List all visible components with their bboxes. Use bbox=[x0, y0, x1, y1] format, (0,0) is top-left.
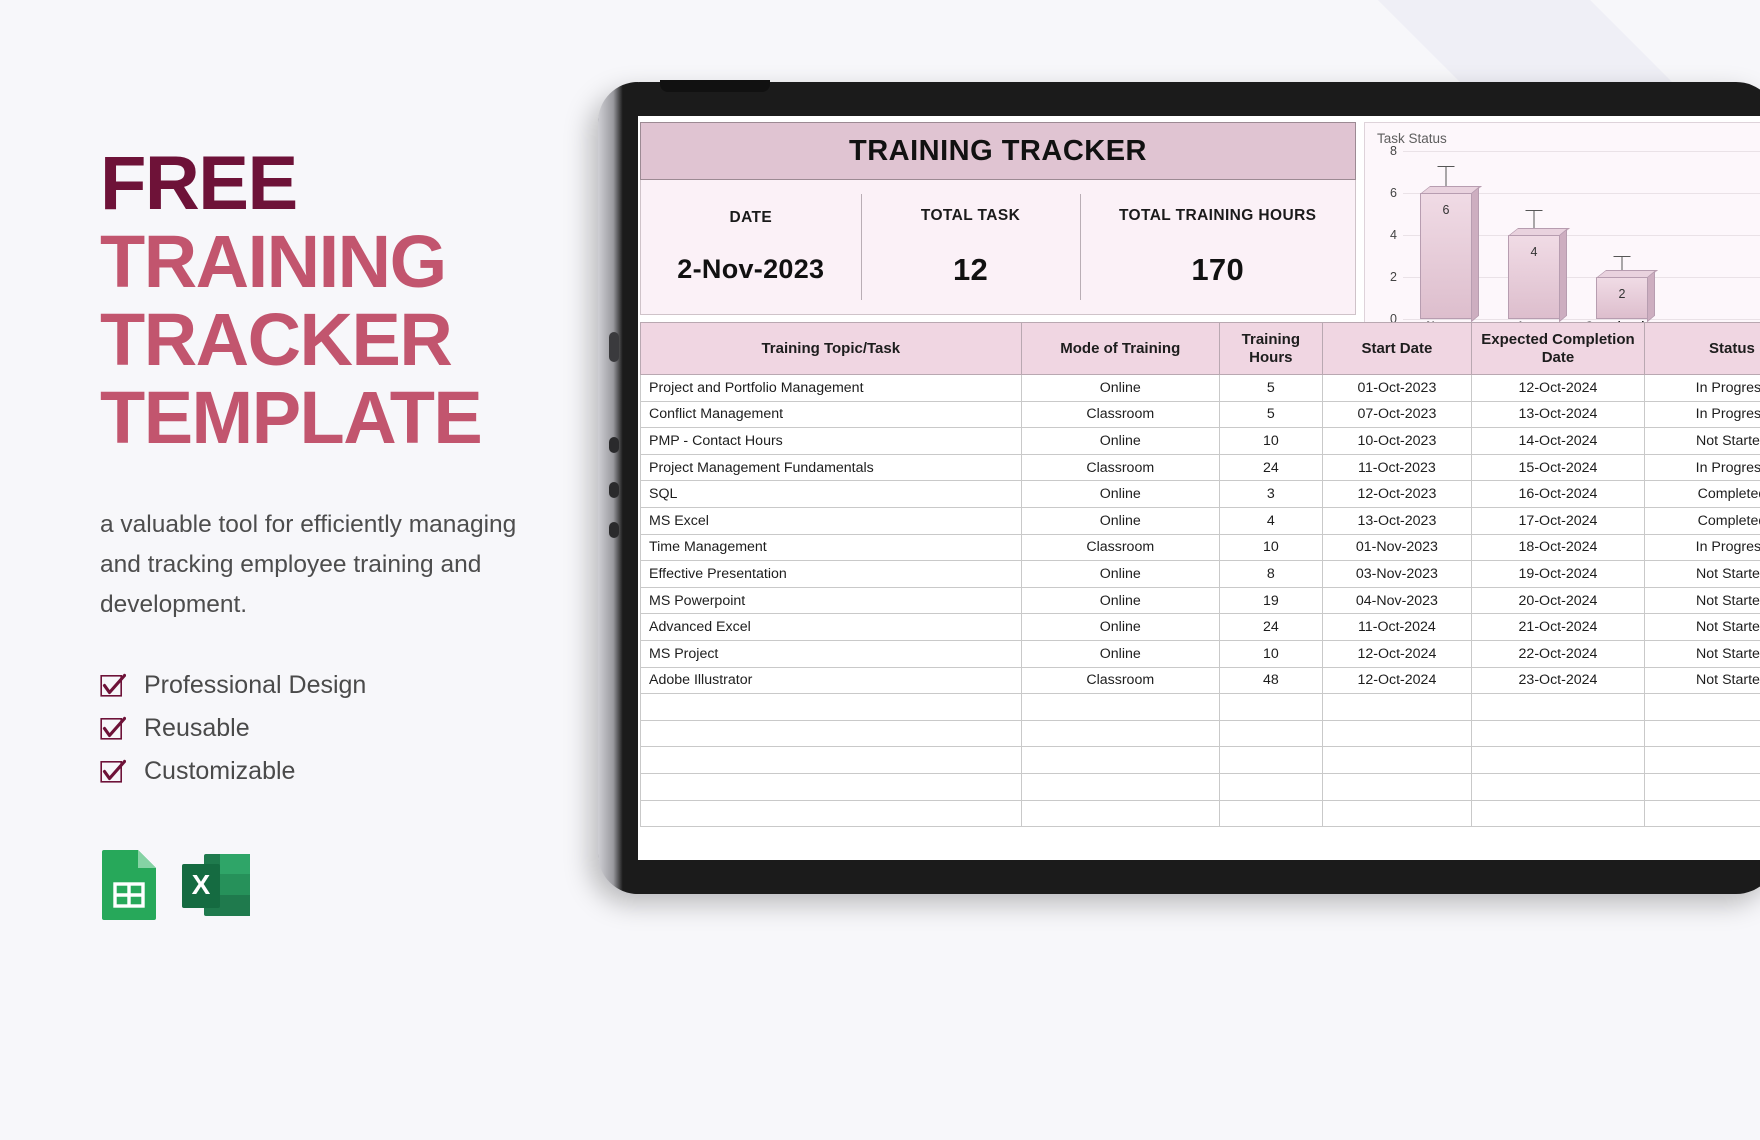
table-cell[interactable]: Online bbox=[1021, 614, 1219, 641]
table-cell[interactable]: 24 bbox=[1219, 454, 1322, 481]
col-header-topic[interactable]: Training Topic/Task bbox=[641, 323, 1022, 375]
table-cell[interactable]: Not Started bbox=[1644, 587, 1760, 614]
table-cell[interactable]: Online bbox=[1021, 481, 1219, 508]
chart-title: Task Status bbox=[1365, 123, 1760, 146]
sheet-title-banner: TRAINING TRACKER bbox=[640, 122, 1356, 180]
table-cell[interactable]: 12-Oct-2024 bbox=[1322, 640, 1471, 667]
table-cell[interactable]: Adobe Illustrator bbox=[641, 667, 1022, 694]
table-cell[interactable]: Effective Presentation bbox=[641, 561, 1022, 588]
table-cell[interactable]: 07-Oct-2023 bbox=[1322, 401, 1471, 428]
svg-text:X: X bbox=[192, 869, 211, 900]
summary-label: DATE bbox=[730, 209, 773, 227]
tablet-button[interactable] bbox=[609, 332, 619, 362]
table-row[interactable] bbox=[641, 773, 1760, 800]
table-cell[interactable]: 03-Nov-2023 bbox=[1322, 561, 1471, 588]
table-cell[interactable] bbox=[1322, 800, 1471, 827]
table-cell[interactable]: 22-Oct-2024 bbox=[1472, 640, 1645, 667]
table-cell[interactable]: Completed bbox=[1644, 507, 1760, 534]
table-cell[interactable]: Not Started bbox=[1644, 561, 1760, 588]
table-cell[interactable]: Completed bbox=[1644, 481, 1760, 508]
table-cell[interactable] bbox=[641, 800, 1022, 827]
excel-icon[interactable]: X bbox=[180, 852, 252, 925]
table-cell[interactable] bbox=[1472, 694, 1645, 721]
table-cell[interactable]: PMP - Contact Hours bbox=[641, 428, 1022, 455]
table-cell[interactable] bbox=[641, 694, 1022, 721]
col-header-hours[interactable]: Training Hours bbox=[1219, 323, 1322, 375]
table-cell[interactable]: 10 bbox=[1219, 534, 1322, 561]
table-cell[interactable]: 24 bbox=[1219, 614, 1322, 641]
table-cell[interactable] bbox=[1322, 694, 1471, 721]
table-cell[interactable]: Project and Portfolio Management bbox=[641, 375, 1022, 402]
table-cell[interactable] bbox=[1021, 720, 1219, 747]
headline-line-3: TRACKER bbox=[100, 301, 620, 379]
checkbox-checked-icon bbox=[100, 673, 126, 699]
table-cell[interactable] bbox=[641, 773, 1022, 800]
table-cell[interactable] bbox=[1644, 720, 1760, 747]
table-cell[interactable]: 10-Oct-2023 bbox=[1322, 428, 1471, 455]
table-cell[interactable]: 01-Nov-2023 bbox=[1322, 534, 1471, 561]
table-cell[interactable] bbox=[1021, 694, 1219, 721]
table-cell[interactable] bbox=[1021, 800, 1219, 827]
table-cell[interactable]: 23-Oct-2024 bbox=[1472, 667, 1645, 694]
summary-cell-date: DATE 2-Nov-2023 bbox=[641, 180, 861, 314]
promo-subtitle: a valuable tool for efficiently managing… bbox=[100, 505, 530, 625]
feature-list: Professional Design Reusable bbox=[100, 671, 620, 786]
table-row[interactable]: MS ProjectOnline1012-Oct-202422-Oct-2024… bbox=[641, 640, 1760, 667]
table-row[interactable] bbox=[641, 800, 1760, 827]
summary-bar: DATE 2-Nov-2023 TOTAL TASK 12 TOTAL TRAI… bbox=[640, 180, 1356, 315]
table-row[interactable]: MS PowerpointOnline1904-Nov-202320-Oct-2… bbox=[641, 587, 1760, 614]
table-cell[interactable]: 12-Oct-2023 bbox=[1322, 481, 1471, 508]
tablet-camera-notch bbox=[660, 80, 770, 92]
table-cell[interactable] bbox=[1644, 800, 1760, 827]
feature-label: Customizable bbox=[144, 757, 295, 786]
table-cell[interactable]: Classroom bbox=[1021, 454, 1219, 481]
table-cell[interactable]: 16-Oct-2024 bbox=[1472, 481, 1645, 508]
summary-label: TOTAL TASK bbox=[921, 207, 1020, 225]
table-cell[interactable]: In Progress bbox=[1644, 375, 1760, 402]
y-tick: 4 bbox=[1390, 228, 1397, 242]
table-cell[interactable]: Time Management bbox=[641, 534, 1022, 561]
table-cell[interactable] bbox=[1472, 800, 1645, 827]
table-cell[interactable]: 10 bbox=[1219, 640, 1322, 667]
list-item: Professional Design bbox=[100, 671, 620, 700]
table-cell[interactable]: In Progress bbox=[1644, 401, 1760, 428]
table-cell[interactable]: Online bbox=[1021, 640, 1219, 667]
table-cell[interactable]: MS Project bbox=[641, 640, 1022, 667]
table-row[interactable]: Adobe IllustratorClassroom4812-Oct-20242… bbox=[641, 667, 1760, 694]
bar-group: 4 bbox=[1507, 151, 1561, 319]
table-cell[interactable]: 19-Oct-2024 bbox=[1472, 561, 1645, 588]
table-row[interactable] bbox=[641, 747, 1760, 774]
table-cell[interactable] bbox=[1322, 747, 1471, 774]
table-cell[interactable] bbox=[1219, 773, 1322, 800]
table-cell[interactable]: 13-Oct-2024 bbox=[1472, 401, 1645, 428]
table-cell[interactable]: Classroom bbox=[1021, 401, 1219, 428]
list-item: Customizable bbox=[100, 757, 620, 786]
sheet-title-text: TRAINING TRACKER bbox=[849, 135, 1147, 168]
chart-y-axis: 8 6 4 2 0 bbox=[1375, 151, 1401, 319]
table-cell[interactable]: Online bbox=[1021, 561, 1219, 588]
table-cell[interactable]: Not Started bbox=[1644, 614, 1760, 641]
table-cell[interactable]: 18-Oct-2024 bbox=[1472, 534, 1645, 561]
col-header-mode[interactable]: Mode of Training bbox=[1021, 323, 1219, 375]
bar-value: 6 bbox=[1420, 203, 1472, 217]
table-row[interactable] bbox=[641, 720, 1760, 747]
summary-value: 170 bbox=[1191, 252, 1244, 288]
task-status-chart: Task Status 8 6 4 2 0 bbox=[1364, 122, 1760, 350]
tablet-device-frame: TRAINING TRACKER DATE 2-Nov-2023 TOTAL T… bbox=[598, 82, 1760, 894]
table-cell[interactable]: 21-Oct-2024 bbox=[1472, 614, 1645, 641]
table-cell[interactable]: 14-Oct-2024 bbox=[1472, 428, 1645, 455]
file-format-icons: X bbox=[100, 848, 620, 925]
spreadsheet: TRAINING TRACKER DATE 2-Nov-2023 TOTAL T… bbox=[638, 116, 1760, 860]
bar-value: 4 bbox=[1508, 245, 1560, 259]
table-cell[interactable] bbox=[1219, 747, 1322, 774]
table-cell[interactable]: Online bbox=[1021, 375, 1219, 402]
table-row[interactable]: Project and Portfolio ManagementOnline50… bbox=[641, 375, 1760, 402]
chart-plot-area: 8 6 4 2 0 bbox=[1375, 151, 1760, 319]
summary-value: 12 bbox=[953, 252, 988, 288]
y-tick: 8 bbox=[1390, 144, 1397, 158]
table-header: Training Topic/Task Mode of Training Tra… bbox=[641, 323, 1760, 375]
page-title: FREE TRAINING TRACKER TEMPLATE bbox=[100, 145, 620, 457]
table-cell[interactable]: Not Started bbox=[1644, 667, 1760, 694]
table-row[interactable]: Conflict ManagementClassroom507-Oct-2023… bbox=[641, 401, 1760, 428]
chart-bars: 6 4 bbox=[1405, 151, 1760, 319]
table-cell[interactable]: 04-Nov-2023 bbox=[1322, 587, 1471, 614]
table-cell[interactable]: 12-Oct-2024 bbox=[1322, 667, 1471, 694]
col-header-status[interactable]: Status bbox=[1644, 323, 1760, 375]
feature-label: Professional Design bbox=[144, 671, 366, 700]
table-cell[interactable]: 11-Oct-2024 bbox=[1322, 614, 1471, 641]
table-cell[interactable] bbox=[1472, 747, 1645, 774]
table-cell[interactable]: MS Excel bbox=[641, 507, 1022, 534]
table-cell[interactable]: 8 bbox=[1219, 561, 1322, 588]
y-tick: 6 bbox=[1390, 186, 1397, 200]
table-cell[interactable]: Not Started bbox=[1644, 640, 1760, 667]
table-cell[interactable]: 01-Oct-2023 bbox=[1322, 375, 1471, 402]
table-cell[interactable]: MS Powerpoint bbox=[641, 587, 1022, 614]
checkbox-checked-icon bbox=[100, 759, 126, 785]
table-row[interactable]: SQLOnline312-Oct-202316-Oct-2024Complete… bbox=[641, 481, 1760, 508]
col-header-expected[interactable]: Expected Completion Date bbox=[1472, 323, 1645, 375]
headline-line-4: TEMPLATE bbox=[100, 379, 620, 457]
table-header-row: Training Topic/Task Mode of Training Tra… bbox=[641, 323, 1760, 375]
training-table: Training Topic/Task Mode of Training Tra… bbox=[640, 322, 1760, 827]
checkbox-checked-icon bbox=[100, 716, 126, 742]
table-row[interactable] bbox=[641, 694, 1760, 721]
table-cell[interactable]: SQL bbox=[641, 481, 1022, 508]
table-cell[interactable] bbox=[1644, 773, 1760, 800]
table-cell[interactable] bbox=[1322, 720, 1471, 747]
table-cell[interactable] bbox=[1472, 720, 1645, 747]
table-cell[interactable] bbox=[1644, 747, 1760, 774]
headline-line-2: TRAINING bbox=[100, 223, 620, 301]
table-row[interactable]: Advanced ExcelOnline2411-Oct-202421-Oct-… bbox=[641, 614, 1760, 641]
table-cell[interactable] bbox=[641, 747, 1022, 774]
tablet-button[interactable] bbox=[609, 482, 619, 498]
table-cell[interactable] bbox=[1219, 720, 1322, 747]
table-cell[interactable]: 12-Oct-2024 bbox=[1472, 375, 1645, 402]
summary-cell-total-task: TOTAL TASK 12 bbox=[861, 180, 1081, 314]
summary-cell-total-hours: TOTAL TRAINING HOURS 170 bbox=[1080, 180, 1355, 314]
table-cell[interactable] bbox=[1219, 800, 1322, 827]
tablet-button[interactable] bbox=[609, 522, 619, 538]
table-cell[interactable]: 11-Oct-2023 bbox=[1322, 454, 1471, 481]
table-cell[interactable]: 19 bbox=[1219, 587, 1322, 614]
table-cell[interactable] bbox=[1021, 747, 1219, 774]
bar-value: 2 bbox=[1596, 287, 1648, 301]
table-cell[interactable]: Project Management Fundamentals bbox=[641, 454, 1022, 481]
summary-value: 2-Nov-2023 bbox=[677, 254, 824, 285]
table-cell[interactable]: 13-Oct-2023 bbox=[1322, 507, 1471, 534]
table-cell[interactable]: 15-Oct-2024 bbox=[1472, 454, 1645, 481]
y-tick: 2 bbox=[1390, 270, 1397, 284]
table-body: Project and Portfolio ManagementOnline50… bbox=[641, 375, 1760, 827]
table-cell[interactable] bbox=[1219, 694, 1322, 721]
table-row[interactable]: PMP - Contact HoursOnline1010-Oct-202314… bbox=[641, 428, 1760, 455]
table-cell[interactable]: 10 bbox=[1219, 428, 1322, 455]
tablet-button[interactable] bbox=[609, 437, 619, 453]
table-cell[interactable] bbox=[1472, 773, 1645, 800]
table-row[interactable]: MS ExcelOnline413-Oct-202317-Oct-2024Com… bbox=[641, 507, 1760, 534]
table-cell[interactable]: 48 bbox=[1219, 667, 1322, 694]
headline-line-1: FREE bbox=[100, 145, 620, 223]
table-cell[interactable]: In Progress bbox=[1644, 534, 1760, 561]
table-cell[interactable]: Online bbox=[1021, 587, 1219, 614]
promo-panel: FREE TRAINING TRACKER TEMPLATE a valuabl… bbox=[100, 0, 620, 1140]
table-cell[interactable]: In Progress bbox=[1644, 454, 1760, 481]
table-cell[interactable]: 5 bbox=[1219, 375, 1322, 402]
table-cell[interactable]: 17-Oct-2024 bbox=[1472, 507, 1645, 534]
col-header-start[interactable]: Start Date bbox=[1322, 323, 1471, 375]
table-cell[interactable] bbox=[1644, 694, 1760, 721]
tablet-screen: TRAINING TRACKER DATE 2-Nov-2023 TOTAL T… bbox=[638, 116, 1760, 860]
bar-group: 2 bbox=[1595, 151, 1649, 319]
list-item: Reusable bbox=[100, 714, 620, 743]
grid-line bbox=[1403, 319, 1760, 320]
feature-label: Reusable bbox=[144, 714, 250, 743]
table-cell[interactable]: 4 bbox=[1219, 507, 1322, 534]
table-cell[interactable]: Advanced Excel bbox=[641, 614, 1022, 641]
table-cell[interactable]: Online bbox=[1021, 428, 1219, 455]
table-cell[interactable]: 5 bbox=[1219, 401, 1322, 428]
table-cell[interactable]: Online bbox=[1021, 507, 1219, 534]
table-cell[interactable]: Classroom bbox=[1021, 534, 1219, 561]
table-cell[interactable] bbox=[1021, 773, 1219, 800]
google-sheets-icon[interactable] bbox=[100, 848, 158, 925]
table-cell[interactable] bbox=[641, 720, 1022, 747]
table-row[interactable]: Effective PresentationOnline803-Nov-2023… bbox=[641, 561, 1760, 588]
table-cell[interactable]: Classroom bbox=[1021, 667, 1219, 694]
table-cell[interactable]: Not Started bbox=[1644, 428, 1760, 455]
table-row[interactable]: Time ManagementClassroom1001-Nov-202318-… bbox=[641, 534, 1760, 561]
table-cell[interactable]: 3 bbox=[1219, 481, 1322, 508]
table-row[interactable]: Project Management FundamentalsClassroom… bbox=[641, 454, 1760, 481]
bar-group: 6 bbox=[1419, 151, 1473, 319]
table-cell[interactable]: 20-Oct-2024 bbox=[1472, 587, 1645, 614]
summary-label: TOTAL TRAINING HOURS bbox=[1119, 207, 1316, 225]
table-cell[interactable]: Conflict Management bbox=[641, 401, 1022, 428]
promo-poster: FREE TRAINING TRACKER TEMPLATE a valuabl… bbox=[0, 0, 1760, 1140]
table-cell[interactable] bbox=[1322, 773, 1471, 800]
